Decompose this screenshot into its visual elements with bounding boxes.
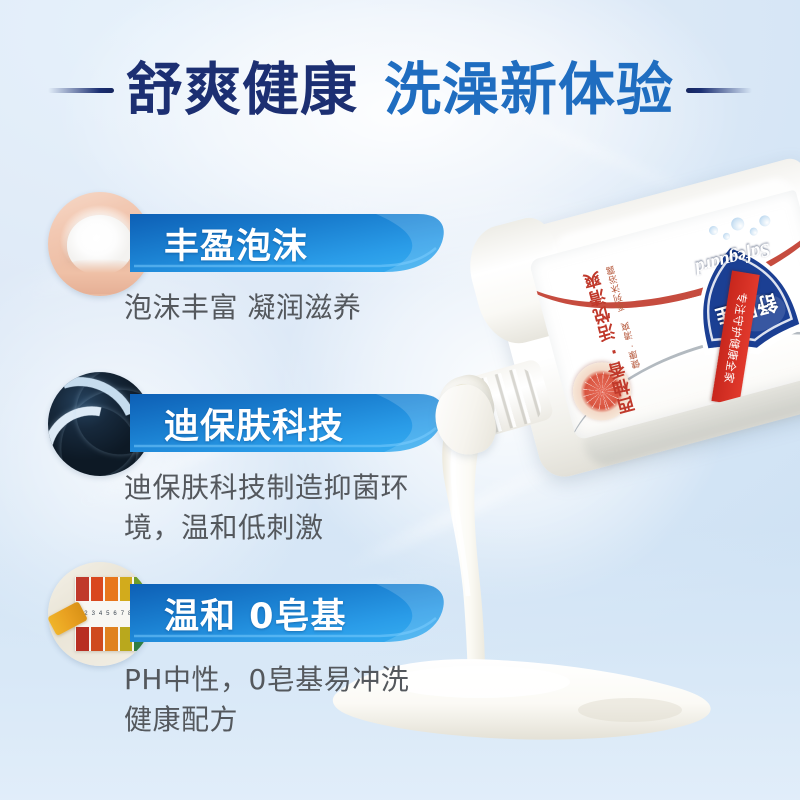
feature-ribbon: 丰盈泡沫 [126,208,456,278]
ph-color-cell [105,627,118,652]
ph-number: 4 [97,611,104,617]
headline-part-2: 洗澡新体验 [384,62,674,119]
headline-dash-right-icon [686,88,752,93]
headline-dash-left-icon [48,88,114,93]
feature-description: 泡沫丰富 凝润滋养 [124,288,524,328]
headline: 舒爽健康 洗澡新体验 [0,52,800,128]
ph-number: 3 [90,611,97,617]
ph-number: 6 [111,611,118,617]
feature-title: 温和 0皂基 [164,578,347,648]
product-advertisement: 舒爽健康 洗澡新体验 舒肤佳 Safeguard [0,0,800,800]
ph-color-cell [76,577,89,602]
feature-description: 迪保肤科技制造抑菌环 境，温和低刺激 [124,468,524,548]
feature-ribbon: 温和 0皂基 [126,578,456,648]
feature-ribbon: 迪保肤科技 [126,388,456,458]
ph-number: 5 [104,611,111,617]
ph-color-cell [105,577,118,602]
feature-title: 丰盈泡沫 [164,208,308,278]
headline-part-1: 舒爽健康 [126,62,358,119]
ph-color-cell [91,577,104,602]
ph-color-cell [91,627,104,652]
feature-description: PH中性，0皂基易冲洗 健康配方 [124,660,524,740]
ph-color-cell [76,627,89,652]
feature-title: 迪保肤科技 [164,388,344,458]
ph-number: 7 [119,611,126,617]
